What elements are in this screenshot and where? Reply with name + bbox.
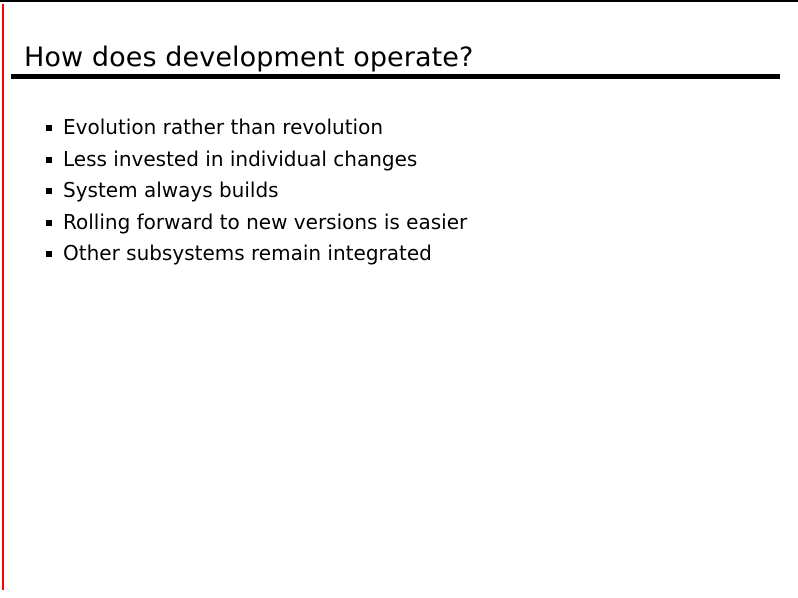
square-bullet-icon bbox=[46, 125, 52, 131]
title-underline-rule bbox=[11, 74, 780, 79]
slide-left-accent-bar bbox=[2, 4, 4, 590]
square-bullet-icon bbox=[46, 188, 52, 194]
list-item: System always builds bbox=[46, 175, 746, 207]
slide-title: How does development operate? bbox=[24, 41, 764, 74]
presentation-slide: How does development operate? Evolution … bbox=[0, 0, 798, 598]
list-item-label: Less invested in individual changes bbox=[63, 144, 417, 176]
list-item: Less invested in individual changes bbox=[46, 144, 746, 176]
square-bullet-icon bbox=[46, 220, 52, 226]
list-item: Other subsystems remain integrated bbox=[46, 238, 746, 270]
list-item-label: System always builds bbox=[63, 175, 279, 207]
list-item: Rolling forward to new versions is easie… bbox=[46, 207, 746, 239]
list-item-label: Rolling forward to new versions is easie… bbox=[63, 207, 467, 239]
list-item-label: Evolution rather than revolution bbox=[63, 112, 383, 144]
list-item-label: Other subsystems remain integrated bbox=[63, 238, 432, 270]
square-bullet-icon bbox=[46, 157, 52, 163]
square-bullet-icon bbox=[46, 251, 52, 257]
bullet-list: Evolution rather than revolution Less in… bbox=[46, 112, 746, 270]
list-item: Evolution rather than revolution bbox=[46, 112, 746, 144]
slide-top-border bbox=[0, 0, 798, 2]
